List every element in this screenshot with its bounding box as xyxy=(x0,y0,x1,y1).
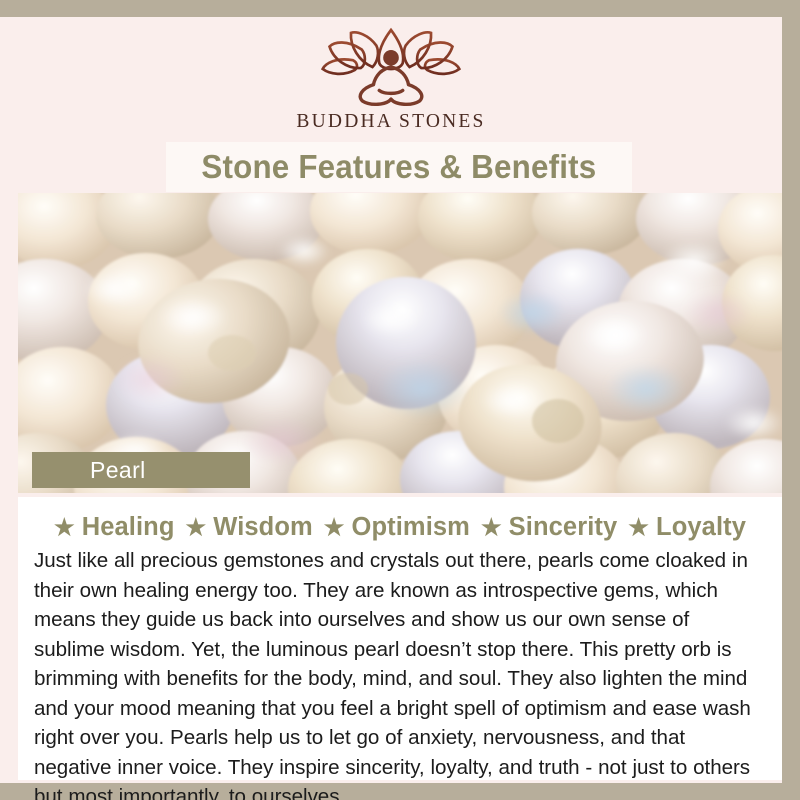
benefit-item-optimism: ★ Optimism xyxy=(313,513,470,542)
benefit-label: Sincerity xyxy=(509,513,618,542)
brand-header: BUDDHA STONES xyxy=(0,17,782,142)
benefit-label: Optimism xyxy=(352,513,470,542)
pearl-stones-photo xyxy=(18,193,782,493)
benefit-item-healing: ★ Healing xyxy=(54,513,175,542)
benefit-item-sincerity: ★ Sincerity xyxy=(470,513,617,542)
content-card: ★ Healing ★ Wisdom ★ Optimism ★ Sincerit… xyxy=(18,497,782,780)
stone-description: Just like all precious gemstones and cry… xyxy=(34,546,764,800)
title-banner: Stone Features & Benefits xyxy=(166,142,632,192)
stone-name-tab: Pearl xyxy=(32,452,250,488)
poster-root: BUDDHA STONES Stone Features & Benefits xyxy=(0,0,800,800)
star-icon: ★ xyxy=(628,516,649,539)
stone-name-label: Pearl xyxy=(90,457,146,484)
star-icon: ★ xyxy=(54,516,75,539)
benefit-label: Loyalty xyxy=(656,513,746,542)
benefit-label: Healing xyxy=(82,513,175,542)
brand-name: BUDDHA STONES xyxy=(296,111,485,133)
benefits-list: ★ Healing ★ Wisdom ★ Optimism ★ Sincerit… xyxy=(18,513,782,542)
benefit-item-wisdom: ★ Wisdom xyxy=(175,513,313,542)
lotus-meditation-icon xyxy=(306,27,476,109)
benefit-label: Wisdom xyxy=(213,513,313,542)
star-icon: ★ xyxy=(186,516,207,539)
page-title: Stone Features & Benefits xyxy=(202,148,597,186)
star-icon: ★ xyxy=(481,516,502,539)
star-icon: ★ xyxy=(324,516,345,539)
benefit-item-loyalty: ★ Loyalty xyxy=(617,513,746,542)
